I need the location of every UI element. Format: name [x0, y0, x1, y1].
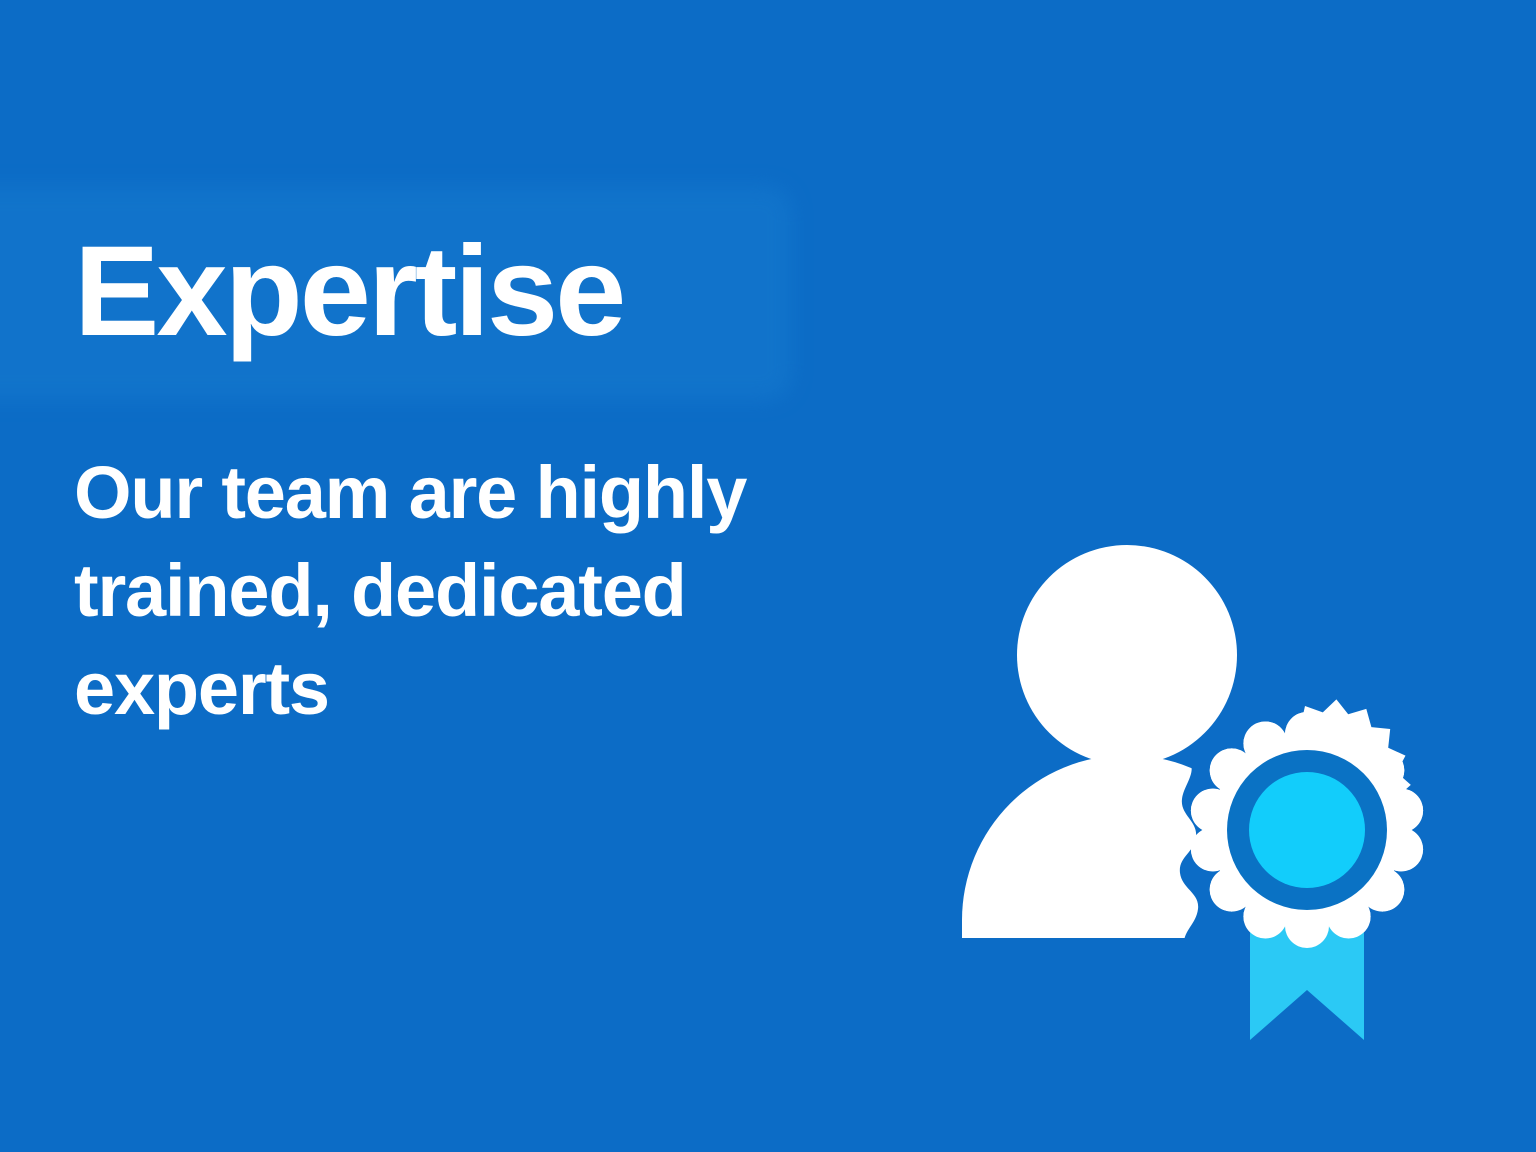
subtitle: Our team are highly trained, dedicated e…	[74, 444, 934, 738]
person-head-icon	[1017, 545, 1237, 765]
certified-person-icon	[930, 520, 1450, 1060]
subtitle-line-1: Our team are highly	[74, 444, 934, 542]
subtitle-line-2: trained, dedicated	[74, 542, 934, 640]
subtitle-line-3: experts	[74, 640, 934, 738]
page-title: Expertise	[74, 228, 974, 356]
slide-canvas: Expertise Our team are highly trained, d…	[0, 0, 1536, 1152]
